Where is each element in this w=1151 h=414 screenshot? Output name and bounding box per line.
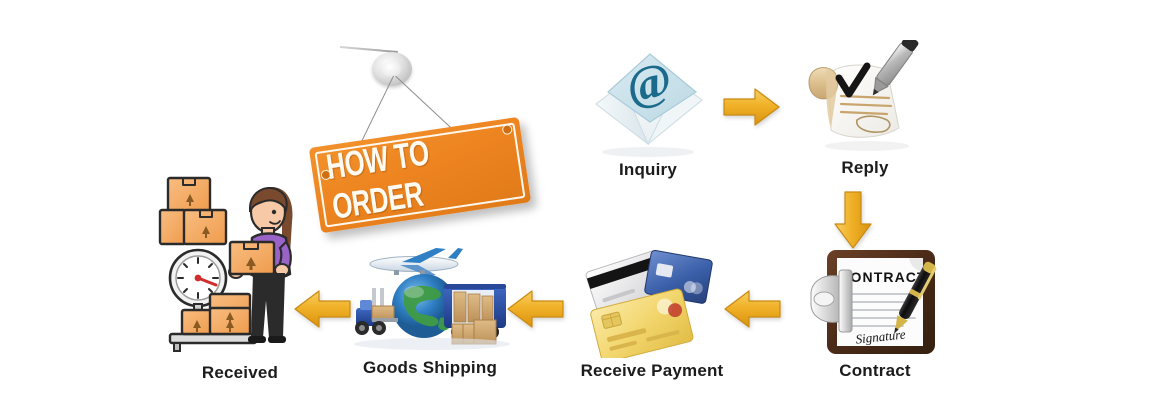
- plane-globe-truck-icon: [340, 240, 520, 360]
- step-contract-label: Contract: [795, 361, 955, 381]
- step-reply-label: Reply: [795, 158, 935, 178]
- step-contract: CONTRACT Signature: [795, 246, 955, 391]
- arrow-right-inquiry-to-reply: [722, 86, 782, 133]
- step-received: Received: [150, 168, 330, 390]
- step-inquiry: @ Inquiry: [578, 48, 718, 193]
- svg-text:@: @: [621, 53, 676, 114]
- clipboard-contract-pen-icon: CONTRACT Signature: [805, 246, 945, 363]
- scroll-checkmark-pen-icon: [795, 40, 935, 160]
- envelope-at-icon: @: [586, 48, 712, 158]
- how-to-order-infographic: HOW TO ORDER: [0, 0, 1151, 414]
- sign-board: HOW TO ORDER: [309, 117, 531, 233]
- step-goods-shipping-label: Goods Shipping: [340, 358, 520, 378]
- step-reply: Reply: [795, 40, 935, 190]
- step-received-label: Received: [150, 363, 330, 383]
- how-to-order-sign: HOW TO ORDER: [300, 36, 540, 241]
- step-inquiry-label: Inquiry: [578, 160, 718, 180]
- person-boxes-scale-icon: [150, 168, 330, 365]
- sign-title: HOW TO ORDER: [322, 111, 517, 238]
- step-receive-payment-label: Receive Payment: [572, 361, 732, 381]
- step-goods-shipping: Goods Shipping: [340, 240, 520, 390]
- credit-cards-icon: [580, 246, 720, 363]
- step-receive-payment: Receive Payment: [572, 246, 732, 391]
